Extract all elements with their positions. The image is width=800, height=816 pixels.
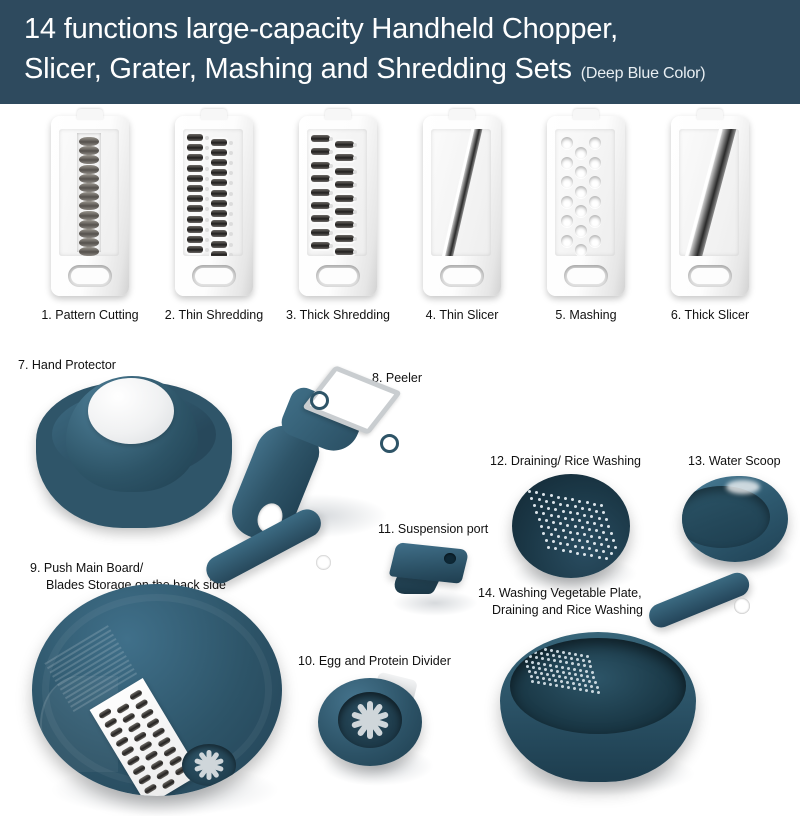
blade-1-grip-hole	[68, 265, 112, 287]
drain-perforation	[602, 531, 605, 534]
drain-perforation	[586, 521, 589, 524]
board-shred-blade	[104, 717, 118, 729]
blade-tooth	[79, 192, 99, 201]
board-disc	[32, 584, 282, 796]
shredding-blade	[335, 248, 354, 255]
suspension-hang-hole	[444, 553, 456, 564]
shredding-blade	[311, 215, 330, 222]
shredding-blade-dot	[229, 212, 233, 216]
shredding-blade-dot	[329, 231, 333, 235]
wash-perforation	[570, 657, 573, 660]
title-line-1: 14 functions large-capacity Handheld Cho…	[24, 9, 782, 49]
shredding-blade-dot	[353, 237, 357, 241]
drain-perforation	[593, 503, 596, 506]
drain-perforation	[576, 512, 579, 515]
wash-perforation	[573, 668, 576, 671]
mashing-hole	[575, 244, 587, 256]
wash-perforation	[586, 675, 589, 678]
drain-perforation	[605, 518, 608, 521]
drain-perforation	[569, 511, 572, 514]
drain-perforation	[559, 503, 562, 506]
mashing-hole	[575, 147, 587, 159]
drain-perforation	[571, 498, 574, 501]
drain-perforation	[542, 493, 545, 496]
blade-3-label: 3. Thick Shredding	[276, 308, 400, 322]
wash-perforation	[596, 686, 599, 689]
blade-6-body	[671, 116, 749, 296]
mashing-hole	[589, 235, 601, 247]
drain-perforation	[566, 524, 569, 527]
blade-1-tab	[77, 109, 103, 120]
wash-perforation	[592, 676, 595, 679]
wash-perforation	[590, 685, 593, 688]
drain-perforation	[586, 540, 589, 543]
wash-perforation	[552, 654, 555, 657]
blade-6-grip-hole	[688, 265, 732, 287]
drain-perforation	[569, 531, 572, 534]
drain-perforation	[588, 547, 591, 550]
item-11-label: 11. Suspension port	[378, 522, 488, 537]
hand-protector-cap	[88, 378, 174, 444]
blade-5: 5. Mashing	[524, 104, 648, 334]
board-shred-blade	[156, 769, 170, 781]
wash-perforation	[567, 686, 570, 689]
wash-perforation	[523, 654, 526, 657]
blade-tooth	[79, 238, 99, 247]
blade-5-tab	[573, 109, 599, 120]
wash-perforation	[574, 653, 577, 656]
drain-perforation	[559, 522, 562, 525]
drain-perforation	[557, 535, 560, 538]
blade-2: 2. Thin Shredding	[152, 104, 276, 334]
shredding-blade-dot	[229, 192, 233, 196]
blade-1: 1. Pattern Cutting	[28, 104, 152, 334]
shredding-blade-dot	[229, 141, 233, 145]
wash-perforation	[540, 652, 543, 655]
blade-2-body	[175, 116, 253, 296]
shredding-blade	[211, 241, 227, 248]
drain-perforation	[593, 522, 596, 525]
drain-perforation	[602, 511, 605, 514]
title-line-2: Slicer, Grater, Mashing and Shredding Se…	[24, 49, 572, 89]
shredding-blade-dot	[205, 228, 209, 232]
title-color-note: (Deep Blue Color)	[581, 54, 706, 94]
wash-perforation	[559, 660, 562, 663]
wash-handle-hole	[734, 598, 750, 614]
wash-perforation	[560, 680, 563, 683]
wash-perforation	[579, 688, 582, 691]
wash-perforation	[567, 667, 570, 670]
wash-perforation	[576, 678, 579, 681]
shredding-blade	[211, 190, 227, 197]
drain-perforation	[540, 505, 543, 508]
drain-perforation	[607, 545, 610, 548]
drain-perforation	[574, 505, 577, 508]
shredding-blade	[335, 141, 354, 148]
shredding-blade-dot	[229, 253, 233, 256]
wash-perforation	[588, 680, 591, 683]
shredding-blade-dot	[229, 171, 233, 175]
wash-perforation	[544, 668, 547, 671]
slicer-diagonal-blade	[438, 129, 484, 256]
blade-4-body	[423, 116, 501, 296]
wash-perforation	[589, 665, 592, 668]
wash-bowl-body	[500, 632, 696, 782]
drain-perforation	[547, 526, 550, 529]
mashing-hole	[575, 205, 587, 217]
shredding-blade	[211, 149, 227, 156]
mashing-hole	[589, 157, 601, 169]
shredding-blade-dot	[353, 210, 357, 214]
drain-perforation	[552, 501, 555, 504]
drain-perforation	[550, 494, 553, 497]
item-13-label: 13. Water Scoop	[688, 454, 781, 469]
peeler-product	[238, 372, 428, 532]
wash-perforation	[542, 677, 545, 680]
wash-perforation	[555, 684, 558, 687]
wash-perforation	[525, 660, 528, 663]
drain-perforation	[598, 517, 601, 520]
drain-perforation	[571, 518, 574, 521]
shredding-blade-dot	[353, 156, 357, 160]
wash-perforation	[534, 671, 537, 674]
wash-perforation	[562, 671, 565, 674]
mashing-hole	[575, 225, 587, 237]
board-shred-blade	[157, 736, 171, 748]
shredding-blade	[211, 220, 227, 227]
wash-perforation	[556, 650, 559, 653]
wash-perforation	[574, 673, 577, 676]
item-7-label: 7. Hand Protector	[18, 358, 116, 373]
wash-perforation	[540, 672, 543, 675]
board-shred-blade	[121, 745, 135, 757]
drain-perforation	[610, 552, 613, 555]
peeler-ear-top	[310, 391, 329, 410]
water-scoop-inner	[682, 486, 770, 548]
mashing-hole	[561, 137, 573, 149]
blade-5-body	[547, 116, 625, 296]
wash-perforation	[562, 651, 565, 654]
drain-perforation	[559, 542, 562, 545]
shredding-blade	[335, 221, 354, 228]
wash-perforation	[561, 666, 564, 669]
water-scoop-body	[682, 476, 788, 562]
board-shred-blade	[139, 740, 153, 752]
wash-perforation	[550, 669, 553, 672]
drain-perforation	[528, 490, 531, 493]
blade-6-window	[679, 129, 739, 256]
wash-perforation	[571, 662, 574, 665]
board-handle-hole	[316, 555, 331, 570]
drain-perforation	[605, 557, 608, 560]
wash-perforation	[573, 687, 576, 690]
suspension-port-product	[392, 546, 492, 616]
title-banner: 14 functions large-capacity Handheld Cho…	[0, 0, 800, 104]
wash-perforation	[572, 682, 575, 685]
drain-perforation	[605, 538, 608, 541]
shredding-blade-dot	[229, 161, 233, 165]
drain-perforation	[598, 536, 601, 539]
drain-perforation	[593, 542, 596, 545]
wash-perforation	[588, 660, 591, 663]
drain-perforation	[614, 546, 617, 549]
wash-perforation	[535, 656, 538, 659]
blade-4-label: 4. Thin Slicer	[400, 308, 524, 322]
blade-6-label: 6. Thick Slicer	[648, 308, 772, 322]
blade-tooth	[79, 220, 99, 229]
shredding-blade-dot	[329, 150, 333, 154]
drain-perforation	[564, 517, 567, 520]
wash-perforation	[531, 661, 534, 664]
shredding-blade-dot	[205, 156, 209, 160]
board-shred-blade	[152, 727, 166, 739]
drain-perforation	[557, 515, 560, 518]
shredding-blade	[335, 208, 354, 215]
shredding-blade	[187, 205, 203, 212]
mashing-hole	[561, 157, 573, 169]
wash-perforation	[528, 650, 531, 653]
wash-perforation	[528, 670, 531, 673]
drain-perforation	[607, 525, 610, 528]
shredding-blade	[311, 229, 330, 236]
wash-perforation	[532, 646, 535, 649]
blade-1-window	[59, 129, 119, 256]
wash-perforation	[580, 654, 583, 657]
drain-perforation	[571, 538, 574, 541]
drain-perforation	[590, 535, 593, 538]
blade-tooth	[79, 146, 99, 155]
board-shred-blade	[144, 750, 158, 762]
board-shred-blade	[161, 778, 175, 790]
board-shred-blade	[143, 783, 157, 795]
wash-bowl-cavity	[510, 638, 686, 734]
wash-perforation	[522, 649, 525, 652]
blade-tooth	[79, 174, 99, 183]
board-shred-blade	[146, 717, 160, 729]
shredding-blade	[335, 235, 354, 242]
wash-perforation	[520, 644, 523, 647]
wash-perforation	[558, 655, 561, 658]
shredding-blade-dot	[229, 222, 233, 226]
blade-5-label: 5. Mashing	[524, 308, 648, 322]
shredding-blade	[187, 185, 203, 192]
board-shred-blade	[126, 755, 140, 767]
drain-perforation	[535, 491, 538, 494]
drain-perforation	[595, 510, 598, 513]
drain-perforation	[578, 539, 581, 542]
washing-vegetable-plate-product	[500, 608, 780, 798]
drain-perforation	[612, 539, 615, 542]
wash-perforation	[594, 681, 597, 684]
drain-perforation	[557, 496, 560, 499]
mashing-hole	[561, 196, 573, 208]
blade-2-window	[183, 129, 243, 256]
drain-perforation	[588, 528, 591, 531]
wash-perforation	[558, 675, 561, 678]
wash-perforation	[537, 662, 540, 665]
blade-tooth	[79, 229, 99, 238]
wash-perforation	[586, 655, 589, 658]
push-main-board-product	[32, 550, 342, 800]
mashing-hole	[561, 215, 573, 227]
shredding-blade	[187, 165, 203, 172]
mashing-hole	[575, 166, 587, 178]
wash-perforation	[582, 679, 585, 682]
shredding-blade-dot	[329, 217, 333, 221]
shredding-blade-dot	[205, 146, 209, 150]
drain-perforation	[554, 547, 557, 550]
board-shred-blade	[109, 726, 123, 738]
drain-perforation	[547, 546, 550, 549]
shredding-blade-dot	[205, 187, 209, 191]
blade-3-body	[299, 116, 377, 296]
shredding-blade-dot	[329, 244, 333, 248]
shredding-blade	[211, 159, 227, 166]
blade-row: 1. Pattern Cutting2. Thin Shredding3. Th…	[0, 104, 800, 334]
pattern-cutting-teeth-strip	[77, 133, 101, 252]
drain-perforation	[542, 532, 545, 535]
wash-perforation	[531, 680, 534, 683]
draining-rice-washing-product	[512, 474, 652, 594]
wash-perforation	[564, 676, 567, 679]
blade-3-window	[307, 129, 367, 256]
item-10-label: 10. Egg and Protein Divider	[298, 654, 451, 669]
board-egg-recess	[182, 744, 236, 786]
wash-perforation	[585, 689, 588, 692]
drain-perforation	[552, 540, 555, 543]
shredding-blade	[187, 134, 203, 141]
wash-perforation	[566, 681, 569, 684]
drain-perforation	[581, 526, 584, 529]
mashing-hole	[561, 235, 573, 247]
wash-perforation	[556, 670, 559, 673]
shredding-blade	[311, 175, 330, 182]
drain-perforation	[566, 543, 569, 546]
blade-2-tab	[201, 109, 227, 120]
board-shred-blade	[163, 746, 177, 758]
drain-perforation	[590, 554, 593, 557]
drain-perforation	[583, 533, 586, 536]
blade-2-grip-hole	[192, 265, 236, 287]
shredding-blade	[187, 154, 203, 161]
blade-3-grip-hole	[316, 265, 360, 287]
shredding-blade	[211, 139, 227, 146]
shredding-blade	[211, 230, 227, 237]
blade-3: 3. Thick Shredding	[276, 104, 400, 334]
item-14-label-line-1: 14. Washing Vegetable Plate,	[478, 586, 642, 601]
shredding-blade	[211, 200, 227, 207]
egg-divider-body	[318, 678, 422, 766]
shredding-blade-dot	[229, 243, 233, 247]
board-shred-blade	[135, 698, 149, 710]
drain-perforation	[574, 525, 577, 528]
drain-perforation	[562, 510, 565, 513]
drain-perforation	[574, 545, 577, 548]
drain-perforation	[550, 514, 553, 517]
wash-perforation	[530, 675, 533, 678]
drain-perforation	[554, 528, 557, 531]
wash-perforation	[579, 669, 582, 672]
board-shred-blade	[132, 764, 146, 776]
wash-perforation	[537, 681, 540, 684]
drain-perforation	[550, 533, 553, 536]
blade-tooth	[79, 155, 99, 164]
wash-perforation	[577, 663, 580, 666]
blade-tooth	[79, 165, 99, 174]
title-line-2-row: Slicer, Grater, Mashing and Shredding Se…	[24, 49, 782, 94]
blade-5-grip-hole	[564, 265, 608, 287]
drain-perforation	[552, 521, 555, 524]
shredding-blade	[187, 236, 203, 243]
drain-perforation	[602, 550, 605, 553]
draining-bowl-body	[512, 474, 630, 578]
drain-perforation	[578, 500, 581, 503]
drain-perforation	[545, 539, 548, 542]
shredding-blade	[187, 216, 203, 223]
blade-6: 6. Thick Slicer	[648, 104, 772, 334]
shredding-blade-dot	[353, 170, 357, 174]
drain-perforation	[581, 507, 584, 510]
drain-perforation	[545, 500, 548, 503]
drain-perforation	[545, 519, 548, 522]
wash-perforation	[597, 691, 600, 694]
drain-perforation	[554, 508, 557, 511]
drain-perforation	[583, 514, 586, 517]
item-12-label: 12. Draining/ Rice Washing	[490, 454, 641, 469]
wash-perforation	[544, 648, 547, 651]
shredding-blade	[211, 251, 227, 256]
wash-perforation	[565, 661, 568, 664]
drain-perforation	[600, 504, 603, 507]
egg-protein-divider-product	[318, 678, 438, 788]
wash-perforation	[580, 674, 583, 677]
shredding-blade-dot	[329, 177, 333, 181]
drain-perforation	[576, 552, 579, 555]
shredding-blade	[311, 202, 330, 209]
shredding-blade	[211, 179, 227, 186]
wash-perforation	[583, 664, 586, 667]
mashing-hole	[575, 186, 587, 198]
blade-3-tab	[325, 109, 351, 120]
shredding-blade-dot	[329, 204, 333, 208]
drain-perforation	[564, 536, 567, 539]
drain-perforation	[569, 550, 572, 553]
shredding-blade-dot	[353, 183, 357, 187]
blade-5-window	[555, 129, 615, 256]
shredding-blade	[311, 189, 330, 196]
wash-perforation	[550, 649, 553, 652]
blade-6-tab	[697, 109, 723, 120]
blade-4-grip-hole	[440, 265, 484, 287]
drain-perforation	[595, 529, 598, 532]
drain-perforation	[583, 553, 586, 556]
mashing-hole	[589, 176, 601, 188]
shredding-blade-dot	[205, 136, 209, 140]
wash-perforation	[554, 679, 557, 682]
drain-perforation	[538, 498, 541, 501]
wash-perforation	[549, 664, 552, 667]
drain-perforation	[578, 519, 581, 522]
blade-tooth	[79, 247, 99, 256]
shredding-blade-dot	[229, 151, 233, 155]
wash-perforation	[549, 683, 552, 686]
shredding-blade	[187, 226, 203, 233]
drain-perforation	[540, 525, 543, 528]
shredding-blade	[311, 135, 330, 142]
drain-perforation	[547, 507, 550, 510]
wash-perforation	[538, 647, 541, 650]
wash-perforation	[529, 655, 532, 658]
